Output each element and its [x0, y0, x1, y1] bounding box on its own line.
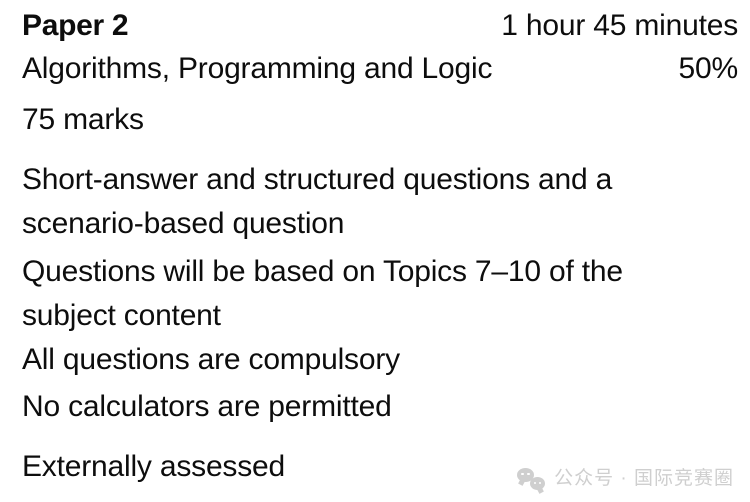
paper-header-row: Paper 2 1 hour 45 minutes [22, 10, 738, 42]
paper-weighting: 50% [679, 53, 738, 85]
paper-marks: 75 marks [22, 105, 738, 135]
wechat-logo-icon [517, 468, 545, 490]
paper-subject-row: Algorithms, Programming and Logic 50% [22, 53, 738, 85]
paper-question-format: Short-answer and structured questions an… [22, 158, 722, 246]
exam-paper-spec-sheet: Paper 2 1 hour 45 minutes Algorithms, Pr… [0, 0, 750, 502]
paper-title: Paper 2 [22, 10, 128, 42]
paper-topic-coverage: Questions will be based on Topics 7–10 o… [22, 250, 722, 338]
paper-calculator-note: No calculators are permitted [22, 392, 738, 422]
paper-subject-title: Algorithms, Programming and Logic [22, 53, 492, 85]
paper-compulsory-note: All questions are compulsory [22, 345, 738, 375]
paper-duration: 1 hour 45 minutes [501, 10, 738, 42]
watermark: 公众号 · 国际竞赛圈 [517, 468, 734, 490]
watermark-label: 公众号 · 国际竞赛圈 [554, 468, 734, 490]
